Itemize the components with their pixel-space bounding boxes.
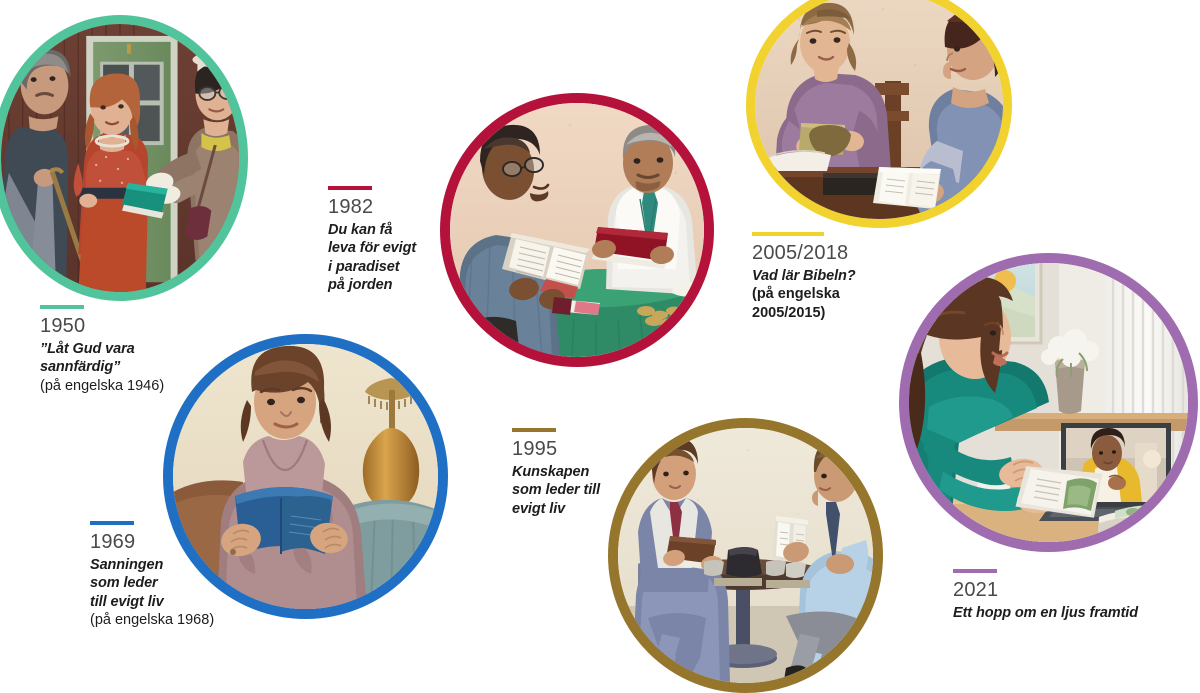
- title-line: Du kan få: [328, 221, 438, 239]
- title-line: evigt liv: [512, 500, 622, 518]
- subtitle-line: (på engelska: [752, 285, 902, 303]
- caption-2021: 2021 Ett hopp om en ljus framtid: [953, 569, 1193, 622]
- title-line: Vad lär Bibeln?: [752, 267, 902, 285]
- subtitle-label-1969: (på engelska 1968): [90, 611, 225, 629]
- medallion-1995: [608, 418, 883, 693]
- title-line: till evigt liv: [90, 593, 225, 611]
- year-label-1950: 1950: [40, 316, 230, 337]
- accent-rule-1969: [90, 521, 134, 525]
- title-line: ”Låt Gud vara: [40, 340, 230, 358]
- timeline-infographic: 1950 ”Låt Gud vara sannfärdig” (på engel…: [0, 0, 1200, 675]
- year-label-1982: 1982: [328, 197, 438, 218]
- title-label-1950: ”Låt Gud vara sannfärdig”: [40, 340, 230, 377]
- title-line: som leder: [90, 574, 225, 592]
- title-label-1982: Du kan få leva för evigt i paradiset på …: [328, 221, 438, 295]
- year-label-1969: 1969: [90, 532, 225, 553]
- title-line: i paradiset: [328, 258, 438, 276]
- year-label-2021: 2021: [953, 580, 1193, 601]
- medallion-1982: [440, 93, 714, 367]
- accent-rule-1982: [328, 186, 372, 190]
- title-label-2021: Ett hopp om en ljus framtid: [953, 604, 1193, 622]
- title-line: Ett hopp om en ljus framtid: [953, 604, 1193, 622]
- title-line: på jorden: [328, 276, 438, 294]
- caption-2005-2018: 2005/2018 Vad lär Bibeln? (på engelska 2…: [752, 232, 902, 322]
- medallion-2005-2018: [746, 0, 1012, 228]
- title-line: Kunskapen: [512, 463, 622, 481]
- title-label-1995: Kunskapen som leder till evigt liv: [512, 463, 622, 518]
- accent-rule-2005-2018: [752, 232, 824, 236]
- illustration-woman-teaching-at-table: [755, 0, 1003, 219]
- illustration-door-to-door-1950s: [1, 24, 239, 292]
- subtitle-line: 2005/2015): [752, 304, 902, 322]
- illustration-video-call-study: [909, 263, 1188, 542]
- accent-rule-2021: [953, 569, 997, 573]
- accent-rule-1995: [512, 428, 556, 432]
- title-line: leva för evigt: [328, 239, 438, 257]
- title-line: sannfärdig”: [40, 358, 230, 376]
- year-label-1995: 1995: [512, 439, 622, 460]
- caption-1969: 1969 Sanningen som leder till evigt liv …: [90, 521, 225, 630]
- caption-1995: 1995 Kunskapen som leder till evigt liv: [512, 428, 622, 518]
- title-label-1969: Sanningen som leder till evigt liv: [90, 556, 225, 611]
- medallion-1950: [0, 15, 248, 301]
- title-label-2005-2018: Vad lär Bibeln?: [752, 267, 902, 285]
- caption-1982: 1982 Du kan få leva för evigt i paradise…: [328, 186, 438, 295]
- subtitle-label-2005-2018: (på engelska 2005/2015): [752, 285, 902, 322]
- title-line: som leder till: [512, 481, 622, 499]
- year-label-2005-2018: 2005/2018: [752, 243, 902, 264]
- illustration-two-men-cafe-table: [618, 428, 873, 683]
- medallion-2021: [899, 253, 1198, 552]
- accent-rule-1950: [40, 305, 84, 309]
- illustration-bible-study-green-table: [450, 103, 704, 357]
- title-line: Sanningen: [90, 556, 225, 574]
